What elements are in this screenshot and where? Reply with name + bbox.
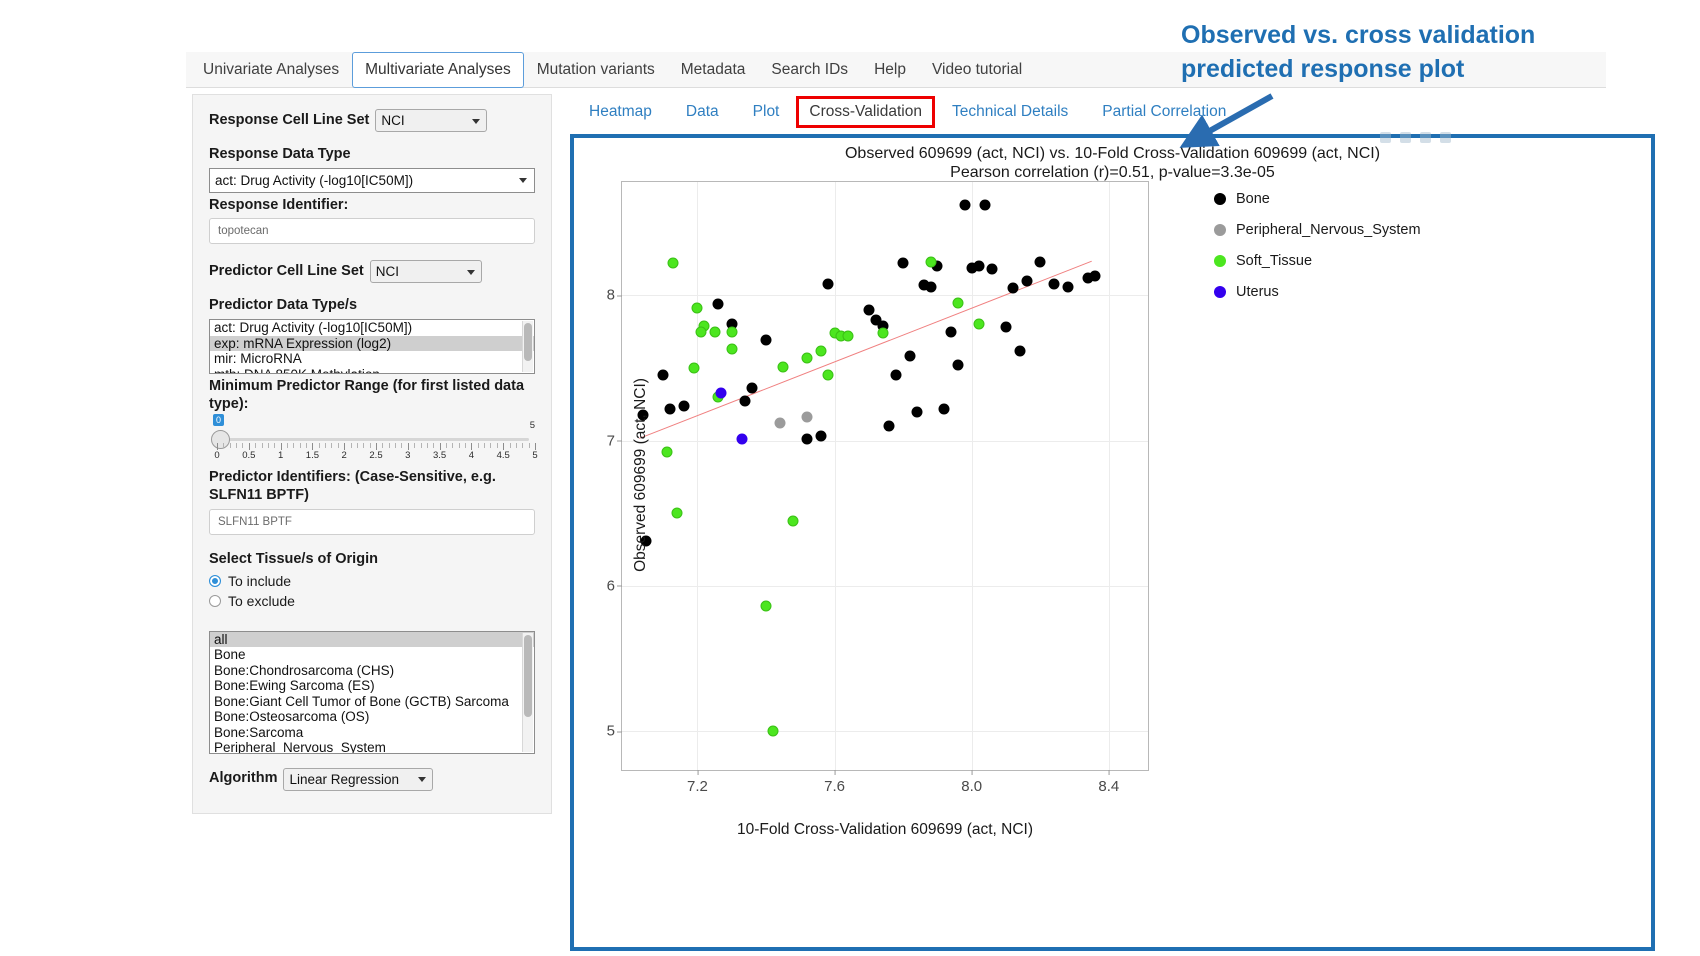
slider-tick xyxy=(446,443,447,448)
slider-tick xyxy=(427,443,428,448)
gridline-horizontal xyxy=(622,295,1148,296)
tissue-radio-to-exclude[interactable]: To exclude xyxy=(209,593,535,609)
slider-tick xyxy=(370,443,371,448)
scatter-point xyxy=(898,258,909,269)
predictor-identifiers-input[interactable]: SLFN11 BPTF xyxy=(209,509,535,535)
callout-annotation: Observed vs. cross validation predicted … xyxy=(1181,18,1601,86)
slider-tick xyxy=(414,443,415,448)
slider-tick xyxy=(242,443,243,448)
plot-legend: BonePeripheral_Nervous_SystemSoft_Tissue… xyxy=(1214,188,1421,312)
tissue-option[interactable]: Bone:Chondrosarcoma (CHS) xyxy=(210,663,534,679)
slider-tick xyxy=(255,443,256,448)
scatter-point xyxy=(747,383,758,394)
response-identifier-value: topotecan xyxy=(218,225,269,237)
slider-tick xyxy=(382,443,383,448)
legend-label: Soft_Tissue xyxy=(1236,253,1312,269)
zoom-icon[interactable] xyxy=(1380,132,1391,143)
result-tab-cross-validation[interactable]: Cross-Validation xyxy=(796,96,935,128)
scatter-point xyxy=(671,508,682,519)
legend-item[interactable]: Bone xyxy=(1214,188,1421,210)
predictor-data-type-option[interactable]: act: Drug Activity (-log10[IC50M]) xyxy=(210,320,534,336)
predictor-cell-line-set-label: Predictor Cell Line Set xyxy=(209,263,364,281)
scatter-point xyxy=(1007,283,1018,294)
tissue-option[interactable]: Bone xyxy=(210,647,534,663)
slider-value-bubble: 0 xyxy=(213,414,224,426)
slider-tick xyxy=(522,443,523,448)
slider-tick xyxy=(249,443,250,450)
slider-tick xyxy=(389,443,390,448)
x-axis-tick-label: 8.0 xyxy=(961,778,982,795)
x-axis-label: 10-Fold Cross-Validation 609699 (act, NC… xyxy=(621,821,1149,839)
scatter-point xyxy=(939,403,950,414)
listbox-scrollbar[interactable] xyxy=(522,633,533,752)
nav-tab-mutation-variants[interactable]: Mutation variants xyxy=(524,52,668,88)
slider-tick-label: 2 xyxy=(342,450,347,461)
slider-tick xyxy=(363,443,364,448)
scatter-point xyxy=(953,297,964,308)
slider-ticks xyxy=(209,443,535,449)
response-cell-line-set-row: Response Cell Line Set NCI xyxy=(209,109,535,132)
slider-tick xyxy=(421,443,422,448)
slider-track[interactable] xyxy=(217,438,529,441)
scatter-point xyxy=(946,326,957,337)
result-tab-heatmap[interactable]: Heatmap xyxy=(572,96,669,128)
slider-tick xyxy=(490,443,491,448)
slider-tick xyxy=(516,443,517,448)
response-cell-line-set-select[interactable]: NCI xyxy=(375,109,487,132)
algorithm-row: Algorithm Linear Regression xyxy=(209,768,535,791)
legend-label: Bone xyxy=(1236,191,1270,207)
slider-tick xyxy=(293,443,294,448)
scatter-point xyxy=(802,434,813,445)
nav-tab-label: Mutation variants xyxy=(537,61,655,79)
chevron-down-icon xyxy=(519,178,527,183)
scatter-point xyxy=(1014,345,1025,356)
slider-tick xyxy=(262,443,263,448)
gridline-vertical xyxy=(1109,182,1110,770)
scatter-point xyxy=(877,328,888,339)
analysis-settings-panel: Response Cell Line Set NCI Response Data… xyxy=(192,94,552,814)
scatter-point xyxy=(973,319,984,330)
result-tab-list: HeatmapDataPlotCross-ValidationTechnical… xyxy=(572,96,1243,128)
scatter-point xyxy=(726,326,737,337)
slider-tick xyxy=(223,443,224,448)
nav-tab-help[interactable]: Help xyxy=(861,52,919,88)
predictor-data-type-option[interactable]: exp: mRNA Expression (log2) xyxy=(210,336,534,352)
min-predictor-range-slider[interactable]: 5 0 00.511.522.533.544.55 xyxy=(209,417,535,461)
gridline-vertical xyxy=(835,182,836,770)
tissue-radio-to-include[interactable]: To include xyxy=(209,573,535,589)
scatter-point xyxy=(778,361,789,372)
response-identifier-input[interactable]: topotecan xyxy=(209,218,535,244)
slider-tick xyxy=(312,443,313,450)
scatter-point xyxy=(843,331,854,342)
scatter-point xyxy=(774,418,785,429)
scatter-point xyxy=(1049,278,1060,289)
scatter-point xyxy=(788,515,799,526)
legend-marker-icon xyxy=(1214,286,1226,298)
slider-tick xyxy=(510,443,511,448)
nav-tab-univariate-analyses[interactable]: Univariate Analyses xyxy=(190,52,352,88)
slider-tick xyxy=(357,443,358,448)
predictor-identifiers-value: SLFN11 BPTF xyxy=(218,516,292,528)
scatter-point xyxy=(815,431,826,442)
nav-tab-metadata[interactable]: Metadata xyxy=(668,52,759,88)
slider-tick xyxy=(484,443,485,448)
slider-tick xyxy=(344,443,345,450)
scatter-point xyxy=(1021,275,1032,286)
scatter-point xyxy=(1062,281,1073,292)
result-tab-label: Heatmap xyxy=(589,103,652,120)
scatter-point xyxy=(863,304,874,315)
result-tab-label: Technical Details xyxy=(952,103,1068,120)
gridline-horizontal xyxy=(622,441,1148,442)
result-tab-technical-details[interactable]: Technical Details xyxy=(935,96,1085,128)
pan-icon[interactable] xyxy=(1400,132,1411,143)
scatter-point xyxy=(925,256,936,267)
nav-tab-label: Video tutorial xyxy=(932,61,1022,79)
slider-tick xyxy=(281,443,282,450)
legend-item[interactable]: Soft_Tissue xyxy=(1214,250,1421,272)
plot-title-block: Observed 609699 (act, NCI) vs. 10-Fold C… xyxy=(574,144,1651,182)
slider-tick xyxy=(287,443,288,448)
response-cell-line-set-value: NCI xyxy=(381,113,404,128)
scatter-point xyxy=(737,434,748,445)
scatter-point xyxy=(973,261,984,272)
algorithm-value: Linear Regression xyxy=(289,772,399,787)
scatter-point xyxy=(953,360,964,371)
scatter-point xyxy=(740,396,751,407)
radio-label: To exclude xyxy=(228,593,295,609)
scatter-point xyxy=(695,326,706,337)
slider-tick xyxy=(408,443,409,450)
slider-tick xyxy=(331,443,332,448)
predictor-data-types-listbox[interactable]: act: Drug Activity (-log10[IC50M])exp: m… xyxy=(209,319,535,374)
tissue-option[interactable]: all xyxy=(210,632,534,648)
result-tab-plot[interactable]: Plot xyxy=(736,96,797,128)
cross-validation-plot-panel: Observed 609699 (act, NCI) vs. 10-Fold C… xyxy=(570,134,1655,951)
slider-tick xyxy=(376,443,377,450)
slider-tick xyxy=(306,443,307,448)
nav-tab-multivariate-analyses[interactable]: Multivariate Analyses xyxy=(352,52,524,88)
legend-marker-icon xyxy=(1214,224,1226,236)
legend-marker-icon xyxy=(1214,255,1226,267)
response-cell-line-set-label: Response Cell Line Set xyxy=(209,112,369,130)
scatter-point xyxy=(661,447,672,458)
scatter-point xyxy=(925,281,936,292)
radio-button[interactable] xyxy=(209,595,221,607)
slider-max-label: 5 xyxy=(530,420,535,431)
nav-tab-label: Metadata xyxy=(681,61,746,79)
scatter-point xyxy=(905,351,916,362)
predictor-cell-line-set-select[interactable]: NCI xyxy=(370,260,482,283)
radio-label: To include xyxy=(228,573,291,589)
result-tab-label: Cross-Validation xyxy=(809,103,922,120)
nav-tab-video-tutorial[interactable]: Video tutorial xyxy=(919,52,1035,88)
scatter-point xyxy=(822,370,833,381)
slider-tick-label: 5 xyxy=(532,450,537,461)
tissue-option[interactable]: Bone:Osteosarcoma (OS) xyxy=(210,709,534,725)
result-tab-data[interactable]: Data xyxy=(669,96,736,128)
predictor-identifiers-label: Predictor Identifiers: (Case-Sensitive, … xyxy=(209,469,535,504)
response-data-type-select[interactable]: act: Drug Activity (-log10[IC50M]) xyxy=(209,168,535,193)
predictor-cell-line-set-value: NCI xyxy=(376,264,399,279)
slider-tick-label: 4.5 xyxy=(497,450,510,461)
tissue-radio-group: To includeTo exclude xyxy=(209,573,535,609)
scatter-point xyxy=(761,335,772,346)
scatter-point xyxy=(716,387,727,398)
scatter-point xyxy=(709,326,720,337)
slider-tick xyxy=(274,443,275,448)
slider-tick xyxy=(471,443,472,450)
scatter-point xyxy=(802,412,813,423)
nav-tab-label: Help xyxy=(874,61,906,79)
slider-tick xyxy=(230,443,231,448)
slider-tick xyxy=(433,443,434,448)
legend-label: Peripheral_Nervous_System xyxy=(1236,222,1421,238)
plot-subtitle: Pearson correlation (r)=0.51, p-value=3.… xyxy=(574,163,1651,182)
slider-tick-label: 1 xyxy=(278,450,283,461)
response-data-type-value: act: Drug Activity (-log10[IC50M]) xyxy=(215,173,413,188)
scatter-point xyxy=(665,403,676,414)
slider-tick xyxy=(217,443,218,450)
chevron-down-icon xyxy=(472,119,480,124)
tissue-option[interactable]: Bone:Giant Cell Tumor of Bone (GCTB) Sar… xyxy=(210,694,534,710)
slider-tick xyxy=(325,443,326,448)
scatter-point xyxy=(692,303,703,314)
scrollbar-thumb[interactable] xyxy=(524,323,532,361)
scatter-point xyxy=(911,406,922,417)
slider-tick-label: 0.5 xyxy=(242,450,255,461)
scatter-point xyxy=(987,264,998,275)
legend-marker-icon xyxy=(1214,193,1226,205)
radio-button[interactable] xyxy=(209,575,221,587)
min-predictor-range-label: Minimum Predictor Range (for first liste… xyxy=(209,378,535,413)
result-tab-label: Data xyxy=(686,103,719,120)
scatter-point xyxy=(668,258,679,269)
plot-toolbar[interactable] xyxy=(1380,132,1451,143)
chevron-down-icon xyxy=(418,777,426,782)
slider-tick xyxy=(452,443,453,448)
slider-tick xyxy=(503,443,504,450)
slider-tick-label: 3 xyxy=(405,450,410,461)
slider-tick-label: 2.5 xyxy=(369,450,382,461)
slider-tick-label: 0 xyxy=(214,450,219,461)
nav-tab-label: Multivariate Analyses xyxy=(365,61,511,79)
scatter-point xyxy=(822,278,833,289)
slider-tick xyxy=(465,443,466,448)
listbox-scrollbar[interactable] xyxy=(522,321,533,372)
nav-tab-search-ids[interactable]: Search IDs xyxy=(758,52,861,88)
save-icon[interactable] xyxy=(1420,132,1431,143)
slider-tick xyxy=(529,443,530,448)
scatter-point xyxy=(726,344,737,355)
tissue-option[interactable]: Bone:Sarcoma xyxy=(210,725,534,741)
scatter-point xyxy=(767,726,778,737)
tissue-select-label: Select Tissue/s of Origin xyxy=(209,551,535,569)
tissue-listbox[interactable]: allBoneBone:Chondrosarcoma (CHS)Bone:Ewi… xyxy=(209,631,535,754)
slider-tick xyxy=(395,443,396,448)
slider-tick xyxy=(236,443,237,448)
slider-tick xyxy=(497,443,498,448)
slider-tick xyxy=(535,443,536,450)
predictor-data-types-label: Predictor Data Type/s xyxy=(209,297,535,315)
nav-tab-label: Univariate Analyses xyxy=(203,61,339,79)
y-axis-tick-label: 5 xyxy=(607,723,615,740)
x-axis-tick-label: 8.4 xyxy=(1098,778,1119,795)
slider-tick xyxy=(401,443,402,448)
scatter-point xyxy=(1001,322,1012,333)
y-axis-label-holder: Observed 609699 (act, NCI) xyxy=(596,181,597,771)
y-axis-tick-label: 7 xyxy=(607,432,615,449)
slider-tick xyxy=(268,443,269,448)
scatter-point xyxy=(884,421,895,432)
gridline-vertical xyxy=(697,182,698,770)
scatter-point xyxy=(980,200,991,211)
nav-tab-label: Search IDs xyxy=(771,61,848,79)
x-axis-tick-label: 7.2 xyxy=(687,778,708,795)
slider-tick xyxy=(351,443,352,448)
scatter-point xyxy=(658,370,669,381)
tissue-option[interactable]: Peripheral_Nervous_System xyxy=(210,740,534,754)
legend-item[interactable]: Peripheral_Nervous_System xyxy=(1214,219,1421,241)
scatter-point xyxy=(678,400,689,411)
callout-arrow-icon xyxy=(1160,88,1310,158)
slider-tick-label: 3.5 xyxy=(433,450,446,461)
response-data-type-label: Response Data Type xyxy=(209,146,535,164)
predictor-data-type-option[interactable]: mir: MicroRNA xyxy=(210,351,534,367)
scrollbar-thumb[interactable] xyxy=(524,635,532,717)
algorithm-label: Algorithm xyxy=(209,770,277,788)
scatter-point xyxy=(1090,271,1101,282)
x-axis-tick-label: 7.6 xyxy=(824,778,845,795)
tissue-option[interactable]: Bone:Ewing Sarcoma (ES) xyxy=(210,678,534,694)
scatter-point xyxy=(713,299,724,310)
slider-tick xyxy=(338,443,339,448)
slider-tick-label: 1.5 xyxy=(306,450,319,461)
slider-tick xyxy=(300,443,301,448)
slider-tick-labels: 00.511.522.533.544.55 xyxy=(209,450,535,462)
scatter-point xyxy=(959,200,970,211)
result-tab-label: Plot xyxy=(753,103,780,120)
scatter-point xyxy=(802,352,813,363)
slider-tick-label: 4 xyxy=(469,450,474,461)
y-axis-tick-label: 6 xyxy=(607,577,615,594)
chevron-down-icon xyxy=(467,270,475,275)
predictor-data-type-option[interactable]: mth: DNA 850K Methylation xyxy=(210,367,534,375)
response-identifier-label: Response Identifier: xyxy=(209,197,535,215)
reset-icon[interactable] xyxy=(1440,132,1451,143)
plot-title: Observed 609699 (act, NCI) vs. 10-Fold C… xyxy=(574,144,1651,163)
algorithm-select[interactable]: Linear Regression xyxy=(283,768,433,791)
app-root: Univariate AnalysesMultivariate Analyses… xyxy=(0,0,1700,956)
y-axis-label: Observed 609699 (act, NCI) xyxy=(632,325,650,625)
scatter-point xyxy=(1035,256,1046,267)
slider-tick xyxy=(440,443,441,450)
scatter-point xyxy=(891,370,902,381)
scatter-point xyxy=(761,601,772,612)
y-axis-tick-label: 8 xyxy=(607,287,615,304)
predictor-cell-line-set-row: Predictor Cell Line Set NCI xyxy=(209,260,535,283)
slider-tick xyxy=(478,443,479,448)
slider-tick xyxy=(459,443,460,448)
slider-tick xyxy=(319,443,320,448)
legend-item[interactable]: Uterus xyxy=(1214,281,1421,303)
scatter-point xyxy=(689,363,700,374)
gridline-horizontal xyxy=(622,731,1148,732)
scatter-point xyxy=(815,345,826,356)
gridline-horizontal xyxy=(622,586,1148,587)
plot-axes: 56787.27.68.08.4 xyxy=(621,181,1149,771)
legend-label: Uterus xyxy=(1236,284,1279,300)
